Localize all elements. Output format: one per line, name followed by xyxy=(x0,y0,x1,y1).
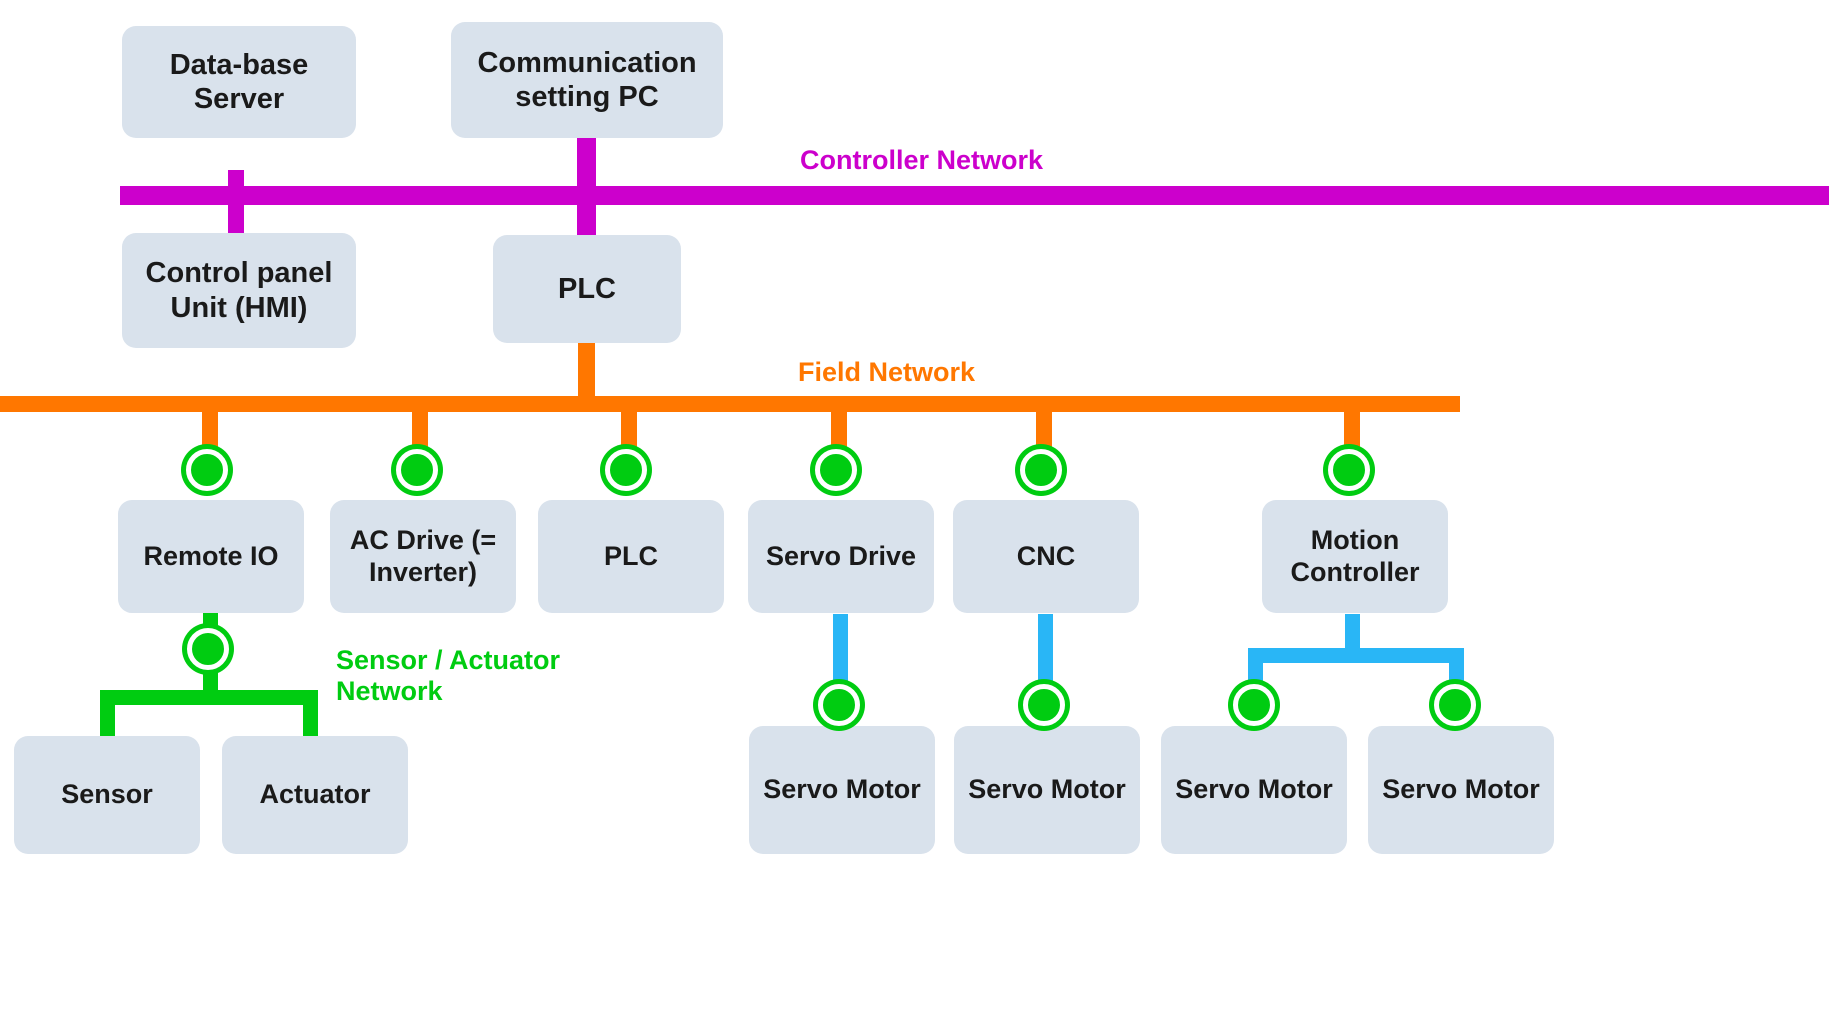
motion-link-cnc xyxy=(1038,614,1053,682)
node-database-server[interactable]: Data-base Server xyxy=(122,26,356,138)
node-remote-io[interactable]: Remote IO xyxy=(118,500,304,613)
node-cnc[interactable]: CNC xyxy=(953,500,1139,613)
connector-node-remote-io[interactable] xyxy=(186,449,228,491)
node-servo-motor-4[interactable]: Servo Motor xyxy=(1368,726,1554,854)
connector-node-servo-motor-1[interactable] xyxy=(818,684,860,726)
connector-node-sensor-actuator[interactable] xyxy=(187,628,229,670)
node-sensor[interactable]: Sensor xyxy=(14,736,200,854)
controller-network-label: Controller Network xyxy=(800,145,1043,176)
node-control-panel-unit-hmi[interactable]: Control panel Unit (HMI) xyxy=(122,233,356,348)
connector-node-servo-drive[interactable] xyxy=(815,449,857,491)
connector-node-cnc[interactable] xyxy=(1020,449,1062,491)
network-diagram-canvas: Controller Network Field Network Sensor … xyxy=(0,0,1829,1027)
node-ac-drive[interactable]: AC Drive (= Inverter) xyxy=(330,500,516,613)
field-drop-from-plc xyxy=(578,338,595,404)
controller-drop-comm-pc xyxy=(577,135,596,197)
node-servo-motor-3[interactable]: Servo Motor xyxy=(1161,726,1347,854)
node-plc-controller[interactable]: PLC xyxy=(493,235,681,343)
sensor-actuator-network-label: Sensor / Actuator Network xyxy=(336,645,560,708)
connector-node-servo-motor-2[interactable] xyxy=(1023,684,1065,726)
field-network-label: Field Network xyxy=(798,357,975,388)
node-servo-drive[interactable]: Servo Drive xyxy=(748,500,934,613)
sensor-net-leg-sensor xyxy=(100,690,115,740)
node-plc-field[interactable]: PLC xyxy=(538,500,724,613)
connector-node-plc-field[interactable] xyxy=(605,449,647,491)
connector-node-servo-motor-4[interactable] xyxy=(1434,684,1476,726)
motion-link-controller-crossbar xyxy=(1248,648,1464,663)
sensor-net-leg-actuator xyxy=(303,690,318,740)
node-motion-controller[interactable]: Motion Controller xyxy=(1262,500,1448,613)
node-servo-motor-1[interactable]: Servo Motor xyxy=(749,726,935,854)
node-communication-setting-pc[interactable]: Communication setting PC xyxy=(451,22,723,138)
connector-node-motion-controller[interactable] xyxy=(1328,449,1370,491)
connector-node-ac-drive[interactable] xyxy=(396,449,438,491)
node-actuator[interactable]: Actuator xyxy=(222,736,408,854)
sensor-net-branch-bus xyxy=(100,690,318,705)
node-servo-motor-2[interactable]: Servo Motor xyxy=(954,726,1140,854)
connector-node-servo-motor-3[interactable] xyxy=(1233,684,1275,726)
motion-link-servo-drive xyxy=(833,614,848,682)
controller-network-bus xyxy=(120,186,1829,205)
field-network-bus xyxy=(0,396,1460,412)
